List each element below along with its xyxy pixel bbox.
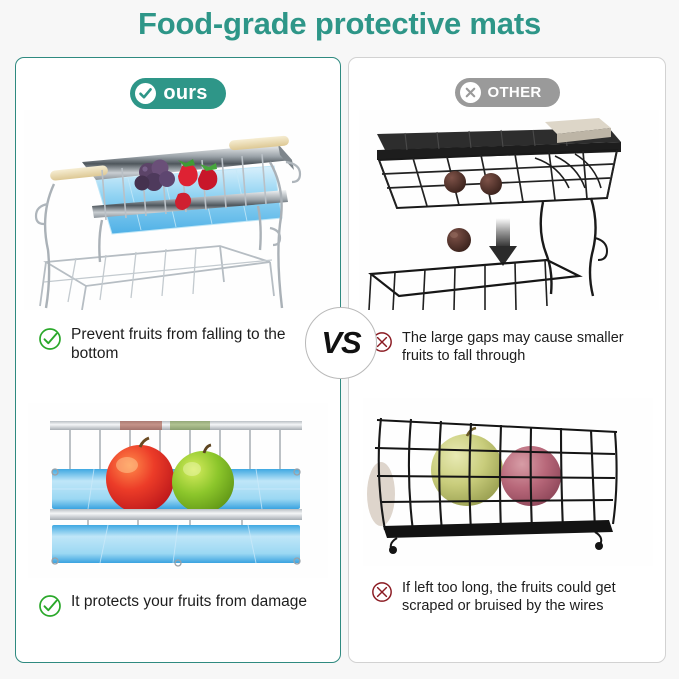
other-bottom-caption-text: If left too long, the fruits could get s… — [402, 580, 651, 615]
ours-badge-row: ours — [16, 78, 340, 109]
other-top-photo — [359, 110, 659, 310]
ours-bottom-photo — [28, 403, 328, 578]
other-badge-label: OTHER — [488, 84, 542, 101]
vs-badge: VS — [305, 307, 377, 379]
other-top-caption-text: The large gaps may cause smaller fruits … — [402, 330, 651, 365]
ours-top-caption: Prevent fruits from falling to the botto… — [38, 326, 328, 364]
other-top-caption: The large gaps may cause smaller fruits … — [371, 330, 651, 365]
ours-top-caption-text: Prevent fruits from falling to the botto… — [71, 326, 328, 364]
ours-panel: ours — [15, 57, 341, 663]
other-panel: OTHER — [348, 57, 666, 663]
ours-badge: ours — [130, 78, 225, 109]
other-bottom-photo — [363, 398, 653, 566]
x-circle-icon — [371, 581, 393, 608]
other-badge-row: OTHER — [349, 78, 665, 107]
other-bottom-caption: If left too long, the fruits could get s… — [371, 580, 651, 615]
ours-bottom-caption: It protects your fruits from damage — [38, 593, 328, 623]
ours-badge-label: ours — [163, 82, 207, 105]
check-circle-icon — [135, 83, 156, 104]
check-circle-icon — [38, 594, 62, 623]
page-title: Food-grade protective mats — [0, 6, 679, 42]
ours-top-photo — [24, 110, 330, 310]
infographic-root: Food-grade protective mats ours — [0, 0, 679, 679]
x-circle-icon — [460, 82, 481, 103]
ours-bottom-caption-text: It protects your fruits from damage — [71, 593, 307, 612]
other-badge: OTHER — [455, 78, 560, 107]
check-circle-icon — [38, 327, 62, 356]
